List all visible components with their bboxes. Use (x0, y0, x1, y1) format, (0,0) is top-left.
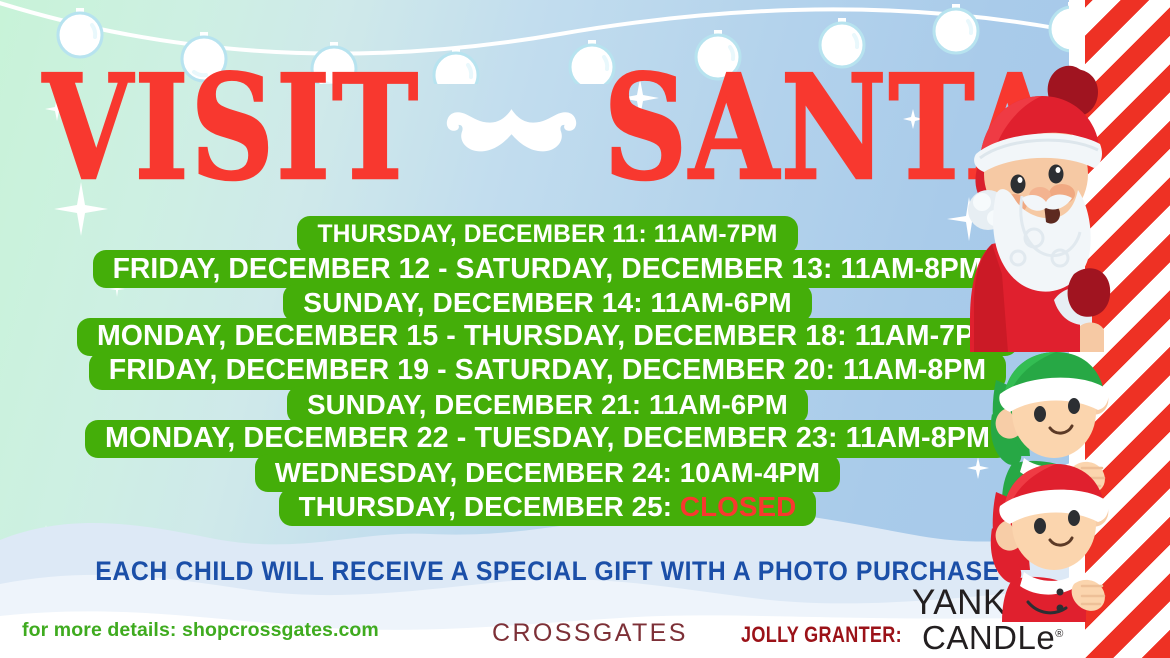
mustache-icon (444, 95, 579, 161)
schedule-row-text: WEDNESDAY, DECEMBER 24: 10AM-4PM (275, 457, 820, 488)
elf-red-illustration (990, 462, 1118, 622)
schedule-row-text: FRIDAY, DECEMBER 12 - SATURDAY, DECEMBER… (113, 252, 983, 284)
santa-schedule-list: THURSDAY, DECEMBER 11: 11AM-7PM FRIDAY, … (0, 216, 1095, 526)
schedule-row-text: THURSDAY, DECEMBER 25: (299, 491, 680, 522)
schedule-row-text: FRIDAY, DECEMBER 19 - SATURDAY, DECEMBER… (109, 354, 986, 386)
schedule-row-closed: THURSDAY, DECEMBER 25: CLOSED (279, 488, 817, 526)
schedule-row-text: SUNDAY, DECEMBER 14: 11AM-6PM (303, 287, 791, 318)
schedule-row-text: MONDAY, DECEMBER 22 - TUESDAY, DECEMBER … (105, 422, 990, 454)
title-word-visit: VISIT (43, 56, 420, 200)
schedule-row-text: SUNDAY, DECEMBER 21: 11AM-6PM (307, 389, 788, 420)
gift-promo-text: EACH CHILD WILL RECEIVE A SPECIAL GIFT W… (44, 556, 1051, 587)
schedule-row-text: THURSDAY, DECEMBER 11: 11AM-7PM (317, 221, 777, 248)
sponsor-label: JOLLY GRANTER: (741, 622, 902, 648)
crossgates-logo: CROSSGATES (492, 619, 688, 648)
closed-badge: CLOSED (680, 491, 796, 522)
santa-visit-poster: VISIT SANTA THURSDAY, DECEMBER 11: 11AM-… (0, 0, 1170, 658)
schedule-row: SUNDAY, DECEMBER 14: 11AM-6PM (283, 284, 811, 322)
website-details-text[interactable]: for more details: shopcrossgates.com (22, 619, 379, 642)
schedule-row: FRIDAY, DECEMBER 19 - SATURDAY, DECEMBER… (89, 352, 1006, 390)
schedule-row: MONDAY, DECEMBER 22 - TUESDAY, DECEMBER … (85, 420, 1010, 458)
page-title: VISIT SANTA (0, 68, 1105, 188)
schedule-row: SUNDAY, DECEMBER 21: 11AM-6PM (287, 386, 808, 424)
yankee-candle-line2: CANDLe® (912, 618, 1082, 654)
santa-illustration (962, 62, 1112, 352)
schedule-row: WEDNESDAY, DECEMBER 24: 10AM-4PM (255, 454, 840, 492)
schedule-row-text: MONDAY, DECEMBER 15 - THURSDAY, DECEMBER… (97, 320, 998, 352)
schedule-row: THURSDAY, DECEMBER 11: 11AM-7PM (297, 216, 797, 254)
registered-mark-icon: ® (1055, 628, 1064, 640)
schedule-row: FRIDAY, DECEMBER 12 - SATURDAY, DECEMBER… (93, 250, 1003, 288)
schedule-row: MONDAY, DECEMBER 15 - THURSDAY, DECEMBER… (77, 318, 1018, 356)
